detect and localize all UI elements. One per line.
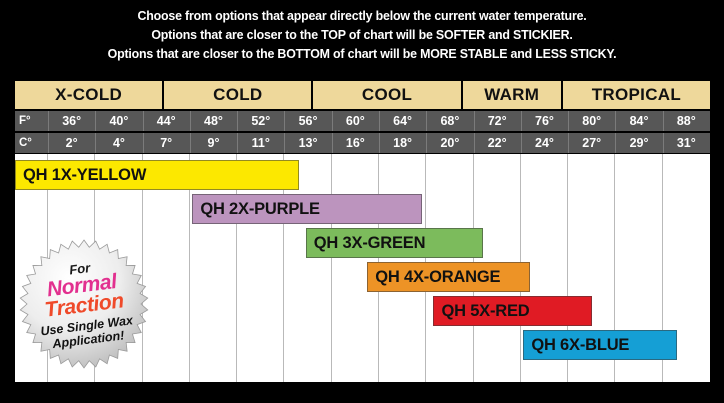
category-cell-cool: COOL (313, 81, 462, 109)
fahrenheit-tick-11: 80° (568, 111, 615, 131)
wax-bar-qh-5x-red[interactable]: QH 5X-RED (433, 296, 591, 326)
celsius-tick-5: 13° (284, 133, 331, 153)
celsius-tick-8: 20° (426, 133, 473, 153)
celsius-tick-2: 7° (143, 133, 190, 153)
normal-traction-badge: For Normal Traction Use Single Wax Appli… (18, 238, 150, 370)
fahrenheit-tick-3: 48° (190, 111, 237, 131)
fahrenheit-tick-9: 72° (474, 111, 521, 131)
wax-bar-qh-3x-green[interactable]: QH 3X-GREEN (306, 228, 483, 258)
celsius-tick-7: 18° (379, 133, 426, 153)
fahrenheit-tick-12: 84° (615, 111, 662, 131)
fahrenheit-tick-8: 68° (426, 111, 473, 131)
celsius-tick-10: 24° (521, 133, 568, 153)
instructions-block: Choose from options that appear directly… (0, 6, 724, 63)
celsius-tick-1: 4° (95, 133, 142, 153)
celsius-tick-11: 27° (568, 133, 615, 153)
celsius-tick-3: 9° (190, 133, 237, 153)
wax-bar-qh-1x-yellow[interactable]: QH 1X-YELLOW (15, 160, 299, 190)
wax-bar-qh-6x-blue[interactable]: QH 6X-BLUE (523, 330, 677, 360)
fahrenheit-unit-label: F° (15, 111, 48, 131)
instruction-line-3: Options that are closer to the BOTTOM of… (22, 44, 703, 63)
fahrenheit-tick-4: 52° (237, 111, 284, 131)
celsius-tick-4: 11° (237, 133, 284, 153)
category-cell-x-cold: X-COLD (15, 81, 164, 109)
fahrenheit-tick-7: 64° (379, 111, 426, 131)
celsius-tick-9: 22° (474, 133, 521, 153)
category-cell-tropical: TROPICAL (563, 81, 710, 109)
instruction-line-2: Options that are closer to the TOP of ch… (22, 25, 703, 44)
instruction-line-1: Choose from options that appear directly… (22, 6, 703, 25)
fahrenheit-tick-10: 76° (521, 111, 568, 131)
starburst-icon (18, 238, 150, 370)
wax-bar-qh-2x-purple[interactable]: QH 2X-PURPLE (192, 194, 421, 224)
celsius-tick-13: 31° (663, 133, 710, 153)
fahrenheit-tick-1: 40° (95, 111, 142, 131)
celsius-scale-row: C° 2°4°7°9°11°13°16°18°20°22°24°27°29°31… (15, 133, 710, 153)
fahrenheit-tick-13: 88° (663, 111, 710, 131)
celsius-unit-label: C° (15, 133, 48, 153)
wax-bar-qh-4x-orange[interactable]: QH 4X-ORANGE (367, 262, 530, 292)
celsius-tick-6: 16° (332, 133, 379, 153)
category-cell-cold: COLD (164, 81, 313, 109)
fahrenheit-scale-row: F° 36°40°44°48°52°56°60°64°68°72°76°80°8… (15, 111, 710, 131)
wax-temperature-chart-poster: Choose from options that appear directly… (0, 0, 724, 403)
fahrenheit-tick-2: 44° (143, 111, 190, 131)
celsius-tick-12: 29° (615, 133, 662, 153)
fahrenheit-tick-5: 56° (284, 111, 331, 131)
fahrenheit-tick-0: 36° (48, 111, 95, 131)
category-band: X-COLDCOLDCOOLWARMTROPICAL (15, 81, 710, 109)
celsius-tick-0: 2° (48, 133, 95, 153)
fahrenheit-tick-6: 60° (332, 111, 379, 131)
category-cell-warm: WARM (463, 81, 563, 109)
